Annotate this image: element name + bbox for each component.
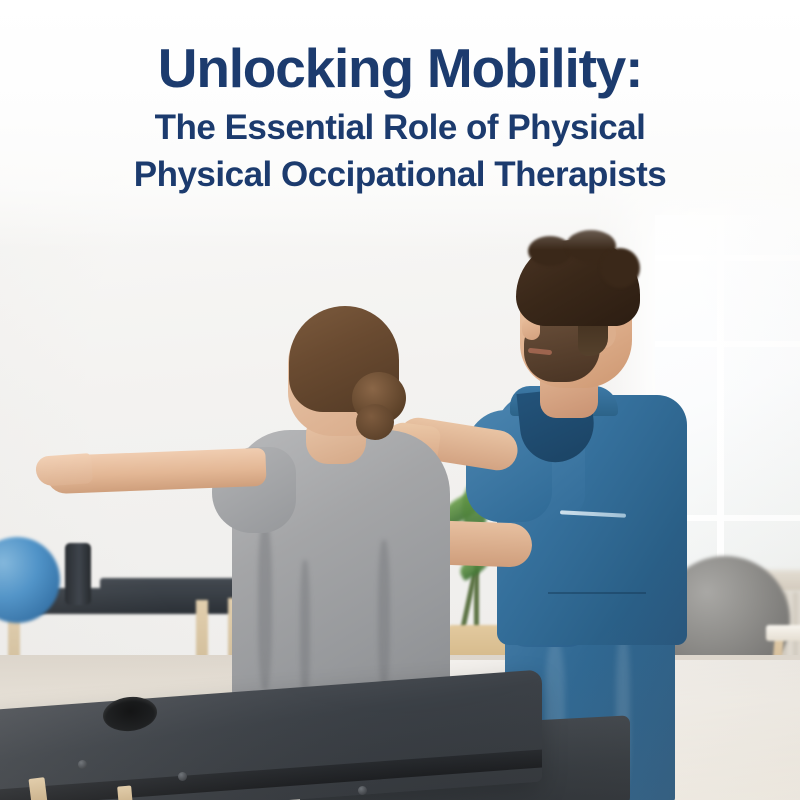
tshirt-fold [300,560,310,700]
patient-hand [35,453,93,487]
tshirt-fold [378,540,390,690]
headline-block: Unlocking Mobility: The Essential Role o… [0,0,800,197]
table-stud [178,772,187,781]
headline-line-1: Unlocking Mobility: [46,40,754,97]
poster-canvas: Unlocking Mobility: The Essential Role o… [0,0,800,800]
headline-line-2: The Essential Role of Physical [46,107,754,150]
patient-hair-bun-lower [356,404,394,440]
tshirt-fold [258,520,272,690]
table-stud [358,786,367,795]
table-leg [28,777,47,800]
headline-line-3: Physical Occipational Therapists [46,154,754,197]
table-leg [117,785,133,800]
table-stud [78,760,87,769]
